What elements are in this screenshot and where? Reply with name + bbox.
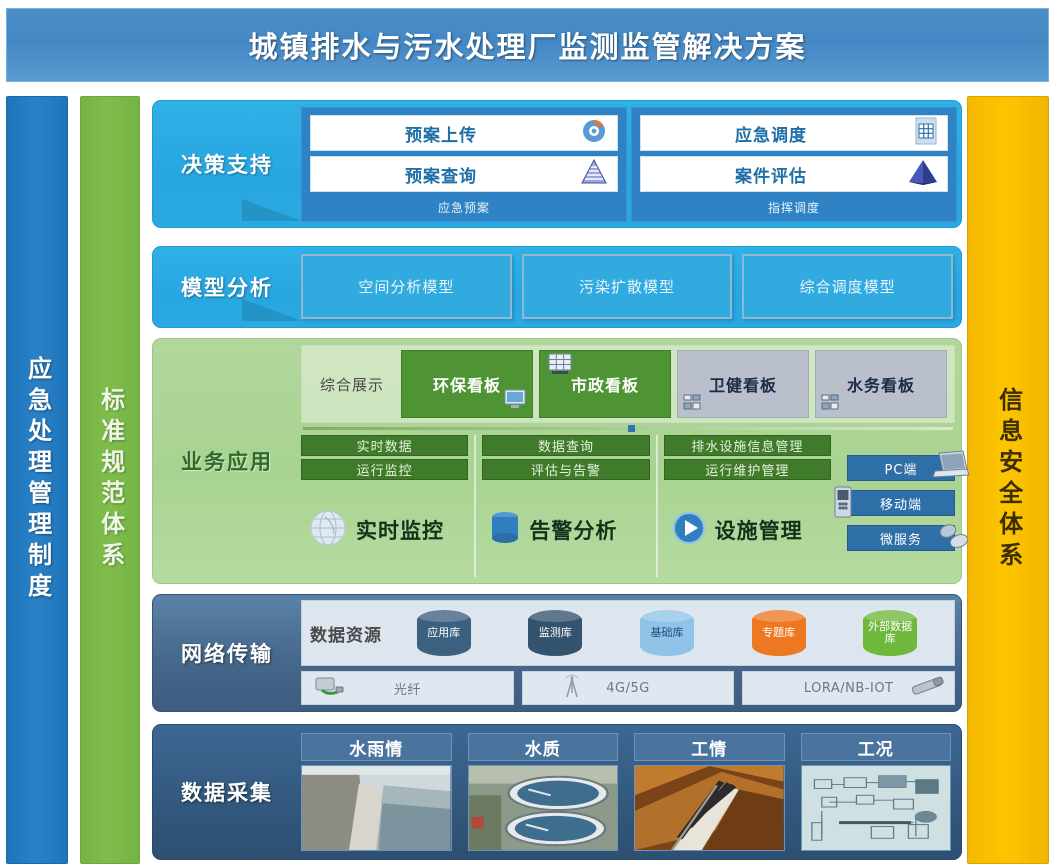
- pillar-standard-system: 标准规范体系: [80, 96, 140, 864]
- business-column-alarm: 数据查询 评估与告警 告警分析: [482, 435, 657, 577]
- business-feature-alarm-analysis[interactable]: 告警分析: [482, 483, 649, 577]
- laptop-icon: [930, 449, 970, 485]
- data-card-water-quality[interactable]: 水质: [468, 733, 619, 851]
- database-monitor[interactable]: 监测库: [500, 610, 612, 656]
- terminal-mobile[interactable]: 移动端: [847, 490, 955, 516]
- page-title: 城镇排水与污水处理厂监测监管解决方案: [248, 24, 806, 66]
- business-feature-label: 告警分析: [529, 515, 617, 545]
- business-column-monitoring: 实时数据 运行监控 实时监控: [301, 435, 476, 577]
- terminal-label: 微服务: [880, 529, 922, 548]
- business-column-facility: 排水设施信息管理 运行维护管理 设施管理: [664, 435, 837, 577]
- layer-business-label: 业务应用: [181, 446, 273, 476]
- pillar-emergency-label: 应急处理管理制度: [24, 356, 49, 604]
- grid-table-icon: [913, 116, 939, 150]
- kanban-label: 水务看板: [847, 372, 915, 396]
- device-icon: [936, 522, 972, 556]
- layer-decision-support: 决策支持 预案上传 预案查询: [152, 100, 962, 228]
- model-box-spatial[interactable]: 空间分析模型: [301, 254, 512, 319]
- database-label: 应用库: [427, 627, 460, 639]
- data-card-title: 工况: [801, 733, 952, 761]
- scada-schematic-photo: [801, 765, 952, 851]
- kanban-label: 环保看板: [433, 372, 501, 396]
- decision-item-emergency-dispatch[interactable]: 应急调度: [640, 115, 948, 151]
- database-label: 监测库: [539, 627, 572, 639]
- layer-decision-label: 决策支持: [181, 149, 273, 179]
- decision-item-case-assessment[interactable]: 案件评估: [640, 156, 948, 192]
- business-feature-facility-management[interactable]: 设施管理: [664, 483, 831, 577]
- business-tag[interactable]: 数据查询: [482, 435, 649, 456]
- kanban-municipal[interactable]: 市政看板: [539, 350, 671, 418]
- decision-item-label: 预案上传: [405, 121, 477, 146]
- link-lora[interactable]: LORA/NB-IOT: [742, 671, 955, 705]
- decision-group-emergency-plan: 预案上传 预案查询: [301, 107, 627, 222]
- solid-pyramid-icon: [907, 158, 939, 190]
- business-tag[interactable]: 排水设施信息管理: [664, 435, 831, 456]
- business-tag[interactable]: 实时数据: [301, 435, 468, 456]
- fiber-cable-icon: [312, 674, 346, 702]
- antenna-tower-icon: [561, 673, 583, 703]
- link-label: 4G/5G: [606, 681, 650, 696]
- business-divider: [303, 427, 953, 430]
- chart-node-icon: [683, 394, 701, 414]
- layer-business-application: 业务应用 综合展示 环保看板 市政看板: [152, 338, 962, 584]
- layer-network-transmission: 网络传输 数据资源 应用库 监测库 基础库 专题库: [152, 594, 962, 712]
- data-card-rainfall[interactable]: 水雨情: [301, 733, 452, 851]
- comprehensive-display-label: 综合展示: [306, 350, 398, 418]
- database-cylinder-icon: [488, 508, 522, 552]
- kanban-water-affairs[interactable]: 水务看板: [815, 350, 947, 418]
- page-title-bar: 城镇排水与污水处理厂监测监管解决方案: [6, 8, 1049, 82]
- data-card-title: 水雨情: [301, 733, 452, 761]
- decision-item-plan-upload[interactable]: 预案上传: [310, 115, 618, 151]
- data-resource-row: 数据资源 应用库 监测库 基础库 专题库: [301, 600, 955, 666]
- model-box-pollution[interactable]: 污染扩散模型: [522, 254, 733, 319]
- terminal-pc[interactable]: PC端: [847, 455, 955, 481]
- cylinder-shape: 应用库: [417, 610, 471, 656]
- layer-model-label-wrap: 模型分析: [153, 247, 301, 327]
- layer-data-acquisition: 数据采集 水雨情 水质: [152, 724, 962, 860]
- data-card-operating-condition[interactable]: 工况: [801, 733, 952, 851]
- cylinder-shape: 监测库: [528, 610, 582, 656]
- link-label: 光纤: [394, 679, 421, 698]
- decision-group-title: 应急预案: [310, 197, 618, 218]
- window-grid-icon: [548, 353, 572, 379]
- terminal-label: 移动端: [880, 494, 922, 513]
- decision-item-plan-query[interactable]: 预案查询: [310, 156, 618, 192]
- database-external[interactable]: 外部数据库: [834, 610, 946, 656]
- decision-group-title: 指挥调度: [640, 197, 948, 218]
- model-box-dispatch[interactable]: 综合调度模型: [742, 254, 953, 319]
- recycle-circle-icon: [579, 116, 609, 150]
- sensor-module-icon: [908, 674, 948, 702]
- database-thematic[interactable]: 专题库: [723, 610, 835, 656]
- terminal-label: PC端: [885, 459, 918, 478]
- pillar-emergency-management: 应急处理管理制度: [6, 96, 68, 864]
- database-basic[interactable]: 基础库: [611, 610, 723, 656]
- river-embankment-photo: [301, 765, 452, 851]
- layer-model-label: 模型分析: [181, 272, 273, 302]
- pillar-standard-label: 标准规范体系: [97, 387, 122, 573]
- globe-icon: [307, 507, 349, 553]
- database-label: 专题库: [762, 627, 795, 639]
- data-card-title: 水质: [468, 733, 619, 761]
- cylinder-shape: 专题库: [752, 610, 806, 656]
- chart-node-icon: [821, 394, 839, 414]
- comprehensive-display-row: 综合展示 环保看板 市政看板: [301, 345, 955, 423]
- layer-network-label: 网络传输: [181, 638, 273, 668]
- layer-data-label-wrap: 数据采集: [153, 725, 301, 859]
- data-resource-label: 数据资源: [310, 621, 382, 646]
- decision-item-label: 应急调度: [735, 121, 807, 146]
- kanban-health[interactable]: 卫健看板: [677, 350, 809, 418]
- layer-arrow-icon: [242, 199, 302, 221]
- link-label: LORA/NB-IOT: [804, 681, 894, 696]
- database-label: 外部数据库: [863, 621, 917, 645]
- database-app[interactable]: 应用库: [388, 610, 500, 656]
- layer-business-label-wrap: 业务应用: [153, 339, 301, 583]
- cylinder-shape: 基础库: [640, 610, 694, 656]
- business-feature-realtime-monitoring[interactable]: 实时监控: [301, 483, 468, 577]
- link-cellular[interactable]: 4G/5G: [522, 671, 735, 705]
- layer-decision-label-wrap: 决策支持: [153, 101, 301, 227]
- pillar-information-security: 信息安全体系: [967, 96, 1049, 864]
- business-tag[interactable]: 运行监控: [301, 459, 468, 480]
- business-feature-label: 设施管理: [715, 515, 803, 545]
- terminal-microservice[interactable]: 微服务: [847, 525, 955, 551]
- business-feature-label: 实时监控: [356, 515, 444, 545]
- data-card-title: 工情: [634, 733, 785, 761]
- pillar-security-label: 信息安全体系: [995, 387, 1020, 573]
- cylinder-shape: 外部数据库: [863, 610, 917, 656]
- pipeline-trench-photo: [634, 765, 785, 851]
- mobile-phone-icon: [830, 485, 856, 523]
- kanban-label: 市政看板: [571, 372, 639, 396]
- decision-item-label: 案件评估: [735, 162, 807, 187]
- terminal-column: PC端 移动端: [843, 435, 955, 577]
- play-circle-icon: [670, 509, 708, 551]
- layer-network-label-wrap: 网络传输: [153, 595, 301, 711]
- business-tag[interactable]: 运行维护管理: [664, 459, 831, 480]
- layer-model-analysis: 模型分析 空间分析模型 污染扩散模型 综合调度模型: [152, 246, 962, 328]
- kanban-environment[interactable]: 环保看板: [401, 350, 533, 418]
- monitor-icon: [504, 389, 526, 413]
- decision-item-label: 预案查询: [405, 162, 477, 187]
- striped-pyramid-icon: [579, 158, 609, 190]
- kanban-label: 卫健看板: [709, 372, 777, 396]
- data-card-works[interactable]: 工情: [634, 733, 785, 851]
- business-tag[interactable]: 评估与告警: [482, 459, 649, 480]
- decision-group-command-dispatch: 应急调度 案件评估: [631, 107, 957, 222]
- database-label: 基础库: [650, 627, 683, 639]
- sedimentation-tank-photo: [468, 765, 619, 851]
- layer-arrow-icon: [242, 299, 302, 321]
- link-fiber[interactable]: 光纤: [301, 671, 514, 705]
- layer-data-label: 数据采集: [181, 777, 273, 807]
